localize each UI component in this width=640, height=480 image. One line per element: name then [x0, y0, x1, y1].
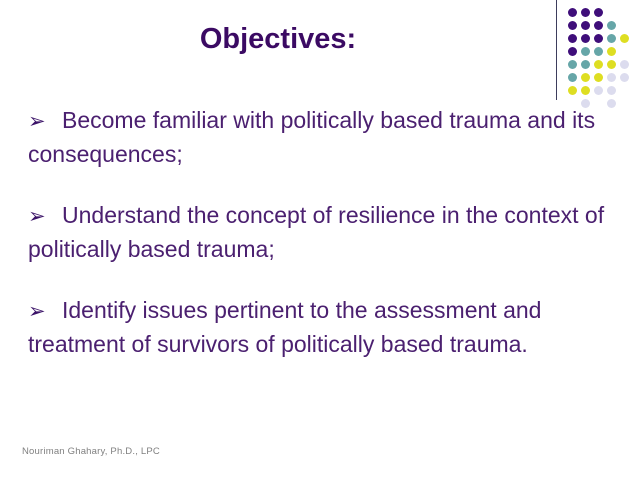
vertical-rule-divider: [556, 0, 557, 100]
decor-dot-teal: [594, 47, 603, 56]
decor-dot-lavender: [607, 73, 616, 82]
decor-dot-yellow: [594, 73, 603, 82]
decor-dot-purple: [594, 34, 603, 43]
arrow-bullet-icon: ➢: [28, 105, 62, 138]
arrow-bullet-icon: ➢: [28, 200, 62, 233]
decor-dot-purple: [594, 21, 603, 30]
decor-dot-purple: [568, 21, 577, 30]
dot-grid: [568, 8, 640, 104]
decor-dot-lavender: [594, 86, 603, 95]
decor-dot-yellow: [607, 60, 616, 69]
decor-dot-teal: [581, 60, 590, 69]
decor-dot-teal: [607, 21, 616, 30]
decor-dot-teal: [581, 47, 590, 56]
decor-dot-lavender: [607, 86, 616, 95]
list-item: ➢Understand the concept of resilience in…: [28, 199, 613, 266]
list-item-text: Identify issues pertinent to the assessm…: [28, 297, 541, 357]
decor-dot-purple: [581, 34, 590, 43]
objectives-list: ➢Become familiar with politically based …: [28, 104, 613, 361]
decor-dot-yellow: [581, 86, 590, 95]
decor-dot-yellow: [594, 60, 603, 69]
decor-dot-teal: [568, 73, 577, 82]
decor-dot-purple: [594, 8, 603, 17]
list-item: ➢Become familiar with politically based …: [28, 104, 613, 171]
decor-dot-yellow: [620, 34, 629, 43]
list-item: ➢Identify issues pertinent to the assess…: [28, 294, 613, 361]
decorative-dot-grid-motif: [556, 0, 640, 110]
decor-dot-purple: [581, 8, 590, 17]
list-item-text: Become familiar with politically based t…: [28, 107, 595, 167]
list-item-text: Understand the concept of resilience in …: [28, 202, 604, 262]
decor-dot-purple: [568, 8, 577, 17]
decor-dot-teal: [568, 60, 577, 69]
decor-dot-yellow: [607, 47, 616, 56]
decor-dot-purple: [568, 34, 577, 43]
page-title: Objectives:: [0, 22, 556, 56]
decor-dot-lavender: [620, 60, 629, 69]
decor-dot-yellow: [568, 86, 577, 95]
decor-dot-yellow: [581, 73, 590, 82]
decor-dot-teal: [607, 34, 616, 43]
decor-dot-purple: [581, 21, 590, 30]
slide-canvas: Objectives: ➢Become familiar with politi…: [0, 0, 640, 480]
arrow-bullet-icon: ➢: [28, 295, 62, 328]
author-credit: Nouriman Ghahary, Ph.D., LPC: [22, 446, 160, 458]
decor-dot-lavender: [620, 73, 629, 82]
decor-dot-purple: [568, 47, 577, 56]
